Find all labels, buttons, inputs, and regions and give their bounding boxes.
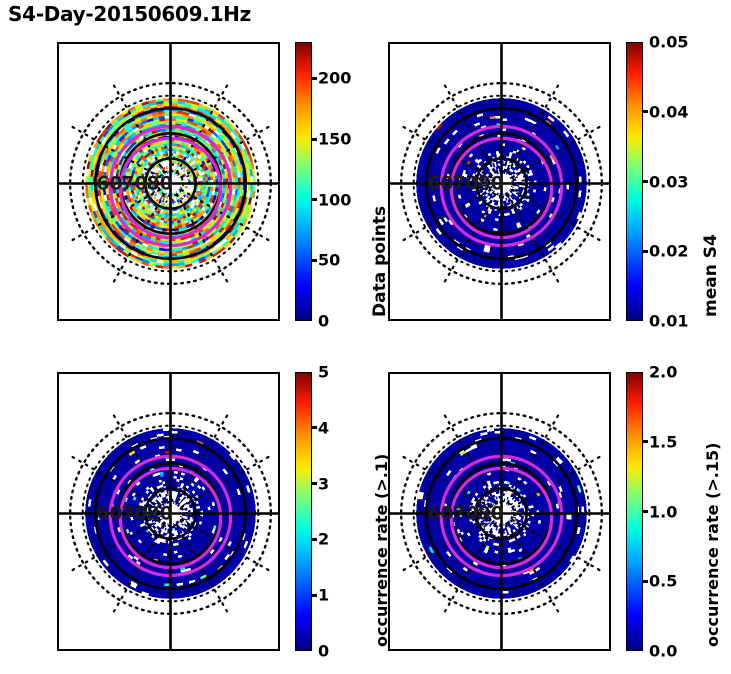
panel-occurrence-rate-01-frame: 607080	[57, 372, 280, 651]
colorbar-tickmark	[642, 440, 648, 443]
latitude-tick-label-80: 80	[146, 173, 172, 195]
colorbar-tickmark	[642, 510, 648, 513]
latitude-tick-labels: 607080	[427, 503, 504, 525]
panel-occurrence-rate-015-colorbar	[626, 372, 643, 651]
panel-data-points-colorbar	[295, 42, 312, 321]
latitude-tick-label-60: 60	[427, 173, 453, 195]
panel-occurrence-rate-01-colorbar	[295, 372, 312, 651]
colorbar-tick-label: 3	[318, 474, 329, 493]
colorbar-tickmark	[642, 580, 648, 583]
panel-mean-s4-colorbar-label: mean S4	[701, 234, 721, 317]
colorbar-tickmark	[311, 198, 317, 201]
panel-data-points-colorbar-label: Data points	[370, 206, 390, 317]
latitude-tick-label-80: 80	[477, 173, 503, 195]
panel-data-points-frame: 607080	[57, 42, 280, 321]
latitude-tick-label-70: 70	[121, 173, 147, 195]
latitude-tick-label-60: 60	[96, 173, 122, 195]
colorbar-tick-label: 0	[318, 312, 329, 331]
colorbar-tick-label: 2.0	[649, 363, 677, 382]
colorbar-tickmark	[642, 110, 648, 113]
colorbar-tick-label: 150	[318, 130, 351, 149]
colorbar-tick-label: 0	[318, 642, 329, 661]
colorbar-tick-label: 0.5	[649, 572, 677, 591]
panel-occurrence-rate-015-polar-plot: 607080	[390, 374, 611, 651]
latitude-tick-label-70: 70	[452, 173, 478, 195]
figure-title: S4-Day-20150609.1Hz	[8, 2, 251, 26]
latitude-tick-label-60: 60	[96, 503, 122, 525]
colorbar-tickmark	[311, 426, 317, 429]
panel-occurrence-rate-015-colorbar-label: occurrence rate (>.15)	[703, 443, 722, 647]
latitude-tick-label-70: 70	[121, 503, 147, 525]
colorbar-tick-label: 100	[318, 190, 351, 209]
panel-occurrence-rate-015-frame: 607080	[388, 372, 611, 651]
panel-data-points-polar-plot: 607080	[59, 44, 280, 321]
colorbar-tickmark	[311, 259, 317, 262]
latitude-tick-labels: 607080	[96, 503, 173, 525]
latitude-tick-label-80: 80	[477, 503, 503, 525]
panel-mean-s4-frame: 607080	[388, 42, 611, 321]
panel-occurrence-rate-01-polar-plot: 607080	[59, 374, 280, 651]
panel-mean-s4-colorbar	[626, 42, 643, 321]
colorbar-tick-label: 0.05	[649, 33, 688, 52]
colorbar-tick-label: 0.04	[649, 102, 688, 121]
colorbar-tick-label: 1.5	[649, 432, 677, 451]
colorbar-tickmark	[311, 538, 317, 541]
latitude-tick-labels: 607080	[96, 173, 173, 195]
latitude-tick-label-60: 60	[427, 503, 453, 525]
colorbar-tick-label: 0.02	[649, 242, 688, 261]
colorbar-tick-label: 4	[318, 418, 329, 437]
latitude-tick-label-70: 70	[452, 503, 478, 525]
latitude-tick-label-80: 80	[146, 503, 172, 525]
colorbar-tickmark	[311, 594, 317, 597]
colorbar-tick-label: 0.0	[649, 642, 677, 661]
colorbar-tickmark	[311, 482, 317, 485]
colorbar-tick-label: 5	[318, 363, 329, 382]
panel-occurrence-rate-01-colorbar-label: occurrence rate (>.1)	[372, 454, 391, 647]
colorbar-tick-label: 0.03	[649, 172, 688, 191]
colorbar-tick-label: 1	[318, 586, 329, 605]
colorbar-tickmark	[311, 77, 317, 80]
latitude-tick-labels: 607080	[427, 173, 504, 195]
colorbar-tick-label: 200	[318, 69, 351, 88]
panel-mean-s4-polar-plot: 607080	[390, 44, 611, 321]
colorbar-tickmark	[642, 180, 648, 183]
colorbar-tick-label: 2	[318, 530, 329, 549]
colorbar-tick-label: 0.01	[649, 312, 688, 331]
colorbar-tick-label: 50	[318, 251, 340, 270]
colorbar-tickmark	[642, 250, 648, 253]
colorbar-tickmark	[311, 138, 317, 141]
colorbar-tick-label: 1.0	[649, 502, 677, 521]
